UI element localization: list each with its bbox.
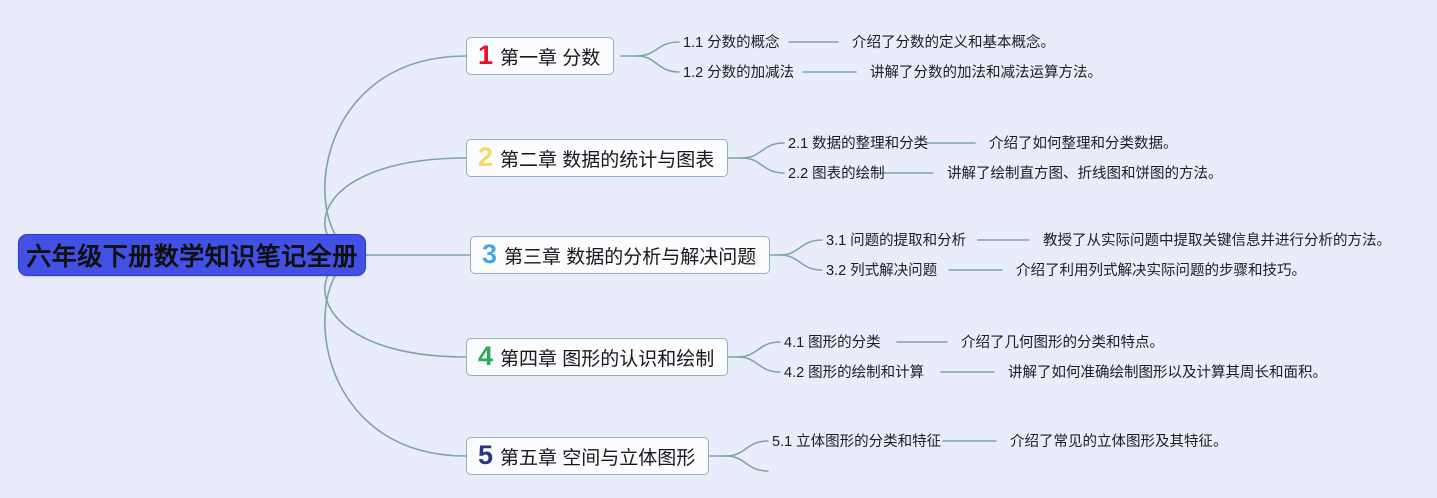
- subtopic-2-2[interactable]: 2.2 图表的绘制: [788, 167, 885, 182]
- root-node-label: 六年级下册数学知识笔记全册: [26, 237, 358, 273]
- edge-ch1-sub-1: [637, 42, 679, 56]
- mindmap-canvas: 六年级下册数学知识笔记全册 1 第一章 分数 1.1 分数的概念 1.2 分数的…: [0, 0, 1437, 498]
- description-2-1: 介绍了如何整理和分类数据。: [989, 137, 1178, 152]
- edge-ch3-sub-2: [780, 255, 822, 270]
- edge-root-chapter-1: [325, 56, 466, 255]
- root-node[interactable]: 六年级下册数学知识笔记全册: [18, 234, 366, 276]
- subtopic-3-2[interactable]: 3.2 列式解决问题: [826, 264, 937, 279]
- chapter-node-5[interactable]: 5 第五章 空间与立体图形: [466, 437, 709, 475]
- chapter-node-2[interactable]: 2 第二章 数据的统计与图表: [466, 139, 728, 177]
- chapter-number-5: 5: [478, 442, 493, 469]
- chapter-node-1[interactable]: 1 第一章 分数: [466, 37, 614, 75]
- chapter-node-3[interactable]: 3 第三章 数据的分析与解决问题: [470, 236, 770, 274]
- subtopic-2-1[interactable]: 2.1 数据的整理和分类: [788, 137, 928, 152]
- chapter-number-1: 1: [478, 42, 493, 69]
- description-3-1: 教授了从实际问题中提取关键信息并进行分析的方法。: [1043, 234, 1391, 249]
- description-4-1: 介绍了几何图形的分类和特点。: [961, 336, 1164, 351]
- description-5-1: 介绍了常见的立体图形及其特征。: [1010, 435, 1228, 450]
- description-1-1: 介绍了分数的定义和基本概念。: [852, 36, 1055, 51]
- edge-ch2-sub-2: [742, 158, 784, 173]
- chapter-label-5: 第五章 空间与立体图形: [500, 443, 695, 470]
- chapter-number-2: 2: [478, 144, 493, 171]
- chapter-label-1: 第一章 分数: [500, 43, 600, 70]
- edge-ch3-sub-1: [780, 240, 822, 255]
- subtopic-4-2[interactable]: 4.2 图形的绘制和计算: [784, 366, 924, 381]
- chapter-label-2: 第二章 数据的统计与图表: [500, 145, 714, 172]
- edge-ch1-sub-2: [637, 56, 679, 72]
- edge-ch5-sub-1: [726, 441, 768, 456]
- chapter-node-4[interactable]: 4 第四章 图形的认识和绘制: [466, 338, 728, 376]
- edge-root-chapter-5: [325, 255, 466, 456]
- subtopic-3-1[interactable]: 3.1 问题的提取和分析: [826, 234, 966, 249]
- edge-ch2-sub-1: [742, 143, 784, 158]
- subtopic-1-2[interactable]: 1.2 分数的加减法: [683, 66, 794, 81]
- description-2-2: 讲解了绘制直方图、折线图和饼图的方法。: [947, 167, 1223, 182]
- subtopic-4-1[interactable]: 4.1 图形的分类: [784, 336, 881, 351]
- description-1-2: 讲解了分数的加法和减法运算方法。: [870, 66, 1102, 81]
- chapter-label-3: 第三章 数据的分析与解决问题: [504, 242, 756, 269]
- chapter-label-4: 第四章 图形的认识和绘制: [500, 344, 714, 371]
- subtopic-1-1[interactable]: 1.1 分数的概念: [683, 36, 780, 51]
- chapter-number-4: 4: [478, 343, 493, 370]
- subtopic-5-1[interactable]: 5.1 立体图形的分类和特征: [772, 435, 941, 450]
- edge-ch5-sub-2-empty: [726, 456, 768, 471]
- edge-ch4-sub-1: [738, 342, 780, 357]
- description-3-2: 介绍了利用列式解决实际问题的步骤和技巧。: [1016, 264, 1306, 279]
- description-4-2: 讲解了如何准确绘制图形以及计算其周长和面积。: [1008, 366, 1327, 381]
- chapter-number-3: 3: [482, 241, 497, 268]
- edge-ch4-sub-2: [738, 357, 780, 372]
